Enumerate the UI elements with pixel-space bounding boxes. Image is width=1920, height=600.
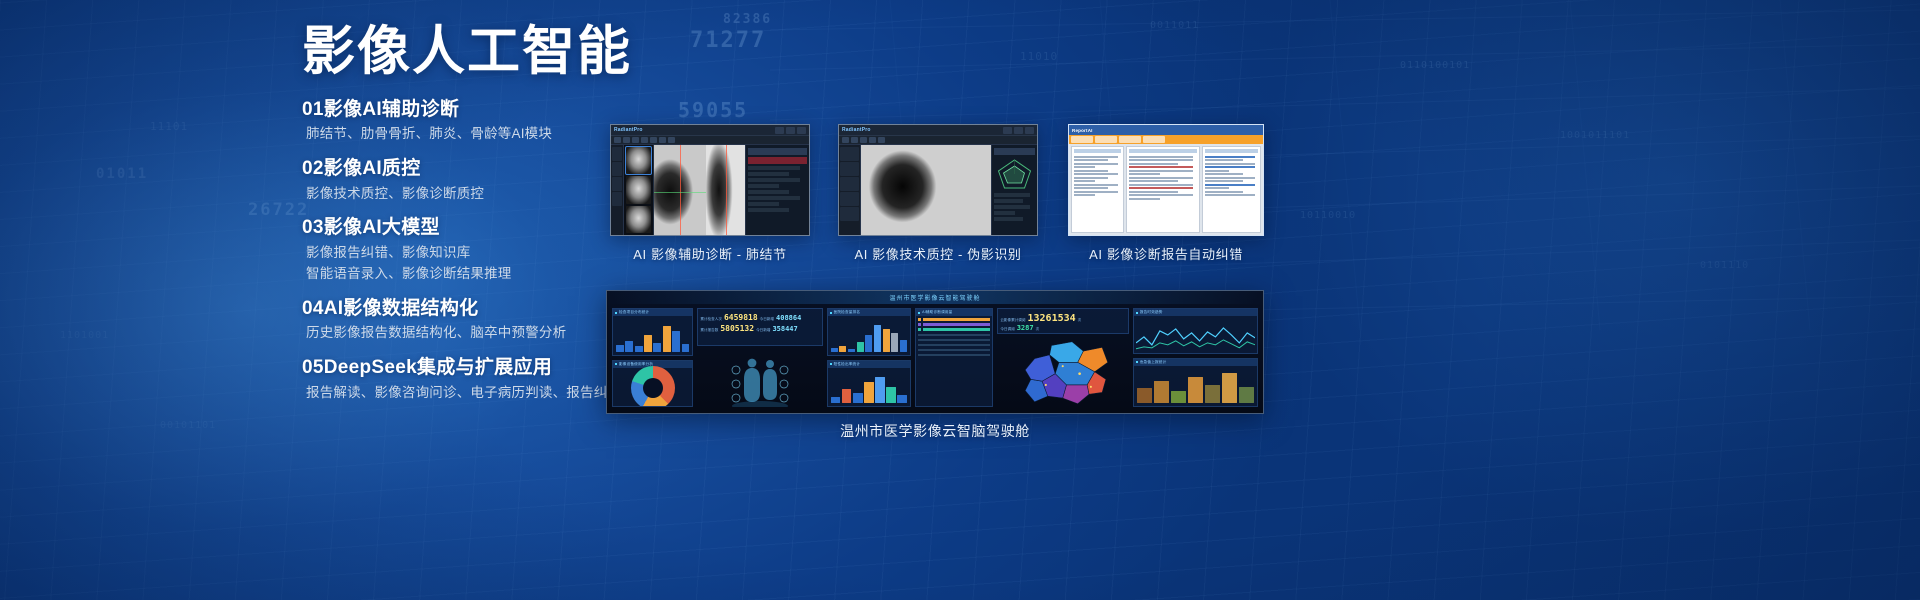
report-titlebar: ReportAI bbox=[1069, 125, 1263, 135]
sidebar-item-artifacts[interactable] bbox=[840, 177, 859, 191]
panel-body bbox=[613, 316, 692, 355]
qc-metric-row[interactable] bbox=[994, 205, 1030, 209]
kpi-delta-label: 今日新增 bbox=[760, 317, 774, 322]
bullet-icon bbox=[615, 363, 617, 365]
viewer-titlebar: RadiantPro bbox=[611, 125, 809, 136]
kpi-value: 5805132 bbox=[720, 324, 754, 333]
suggestion-header bbox=[1205, 149, 1258, 153]
viewer-toolbar[interactable] bbox=[839, 136, 1037, 145]
line-chart bbox=[1136, 323, 1255, 353]
sidebar-item-series[interactable] bbox=[612, 147, 622, 161]
panel-critical-value-report[interactable]: 危急值上报统计 bbox=[1133, 358, 1258, 407]
ct-chest-image[interactable] bbox=[861, 145, 991, 235]
report-editor-window: ReportAI bbox=[1069, 125, 1263, 235]
finding-row[interactable] bbox=[748, 166, 800, 170]
bar bbox=[653, 343, 661, 352]
worklist-header bbox=[1074, 149, 1121, 153]
worklist-row[interactable] bbox=[1074, 166, 1095, 168]
kpi-label: 今日调阅 bbox=[1000, 327, 1014, 332]
finding-row[interactable] bbox=[748, 190, 789, 194]
kpi-label: 累计检查人次 bbox=[700, 317, 722, 322]
bar bbox=[864, 382, 874, 403]
ai-findings-panel[interactable] bbox=[745, 145, 809, 235]
worklist-row[interactable] bbox=[1074, 163, 1118, 165]
panel-body bbox=[613, 368, 692, 407]
bullet-icon bbox=[1136, 361, 1138, 363]
bar bbox=[883, 329, 890, 352]
human-body-illustration bbox=[729, 350, 791, 407]
crosshair-horizontal bbox=[654, 192, 706, 193]
panel-title: 医院检查量排名 bbox=[834, 310, 861, 315]
suggestion-row[interactable] bbox=[1205, 184, 1255, 186]
bar bbox=[831, 397, 841, 403]
dashboard-column-2: 累计检查人次 6459818 今日新增 408864 累计报告数 5805132… bbox=[697, 308, 822, 407]
suggestion-row[interactable] bbox=[1205, 159, 1243, 161]
bar bbox=[1239, 387, 1254, 403]
worklist-row[interactable] bbox=[1074, 184, 1118, 186]
sidebar-item-qc-rules[interactable] bbox=[840, 162, 859, 176]
bar bbox=[853, 393, 863, 403]
panel-body bbox=[1134, 316, 1257, 353]
sidebar-item-patient[interactable] bbox=[612, 162, 622, 176]
report-text-line bbox=[1129, 159, 1193, 161]
worklist-row[interactable] bbox=[1074, 173, 1118, 175]
legend-item bbox=[918, 328, 990, 331]
suggestion-row[interactable] bbox=[1205, 191, 1243, 193]
dashboard-grid: 检查项目分布统计 bbox=[607, 304, 1263, 413]
bar bbox=[839, 346, 846, 351]
panel-exam-distribution[interactable]: 检查项目分布统计 bbox=[612, 308, 693, 356]
zoom-icon[interactable] bbox=[851, 137, 858, 143]
viewer-sidebar[interactable] bbox=[611, 145, 624, 235]
layout-icon[interactable] bbox=[659, 137, 666, 143]
suggestion-row[interactable] bbox=[1205, 163, 1255, 165]
report-text-line bbox=[1129, 198, 1160, 200]
bar bbox=[875, 377, 885, 403]
list-row bbox=[918, 344, 990, 346]
bullet-icon bbox=[830, 363, 832, 365]
report-text-line bbox=[1129, 194, 1193, 196]
worklist-row[interactable] bbox=[1074, 177, 1108, 179]
viewer-sidebar[interactable] bbox=[839, 145, 861, 235]
window-controls[interactable] bbox=[775, 127, 806, 134]
qc-result-panel[interactable] bbox=[991, 145, 1037, 235]
wenzhou-region-map[interactable] bbox=[997, 338, 1128, 407]
maximize-icon[interactable] bbox=[1014, 127, 1023, 134]
panel-human-body-model[interactable] bbox=[697, 350, 822, 407]
bar bbox=[831, 348, 838, 352]
app-brand-label: RadiantPro bbox=[842, 127, 871, 133]
qc-metric-row[interactable] bbox=[994, 199, 1023, 203]
bar bbox=[857, 342, 864, 351]
bar bbox=[1171, 391, 1186, 403]
worklist-row[interactable] bbox=[1074, 191, 1118, 193]
qc-metric-row[interactable] bbox=[994, 211, 1015, 215]
dashboard-column-1: 检查项目分布统计 bbox=[612, 308, 693, 407]
feature-subtitle-line2: 智能语音录入、影像诊断结果推理 bbox=[306, 264, 672, 285]
legend-item bbox=[918, 318, 990, 321]
panel-ai-usage-list[interactable]: AI辅助诊断调用量 bbox=[915, 308, 993, 407]
dashboard-title: 温州市医学影像云智能驾驶舱 bbox=[607, 291, 1263, 304]
sidebar-item-settings[interactable] bbox=[612, 192, 622, 206]
legend-swatch bbox=[918, 323, 921, 326]
kpi-delta-label: 今日新增 bbox=[756, 328, 770, 333]
bar bbox=[1137, 388, 1152, 403]
dashboard-column-5: 云影像累计调阅 13261534 次 今日调阅 3287 次 bbox=[997, 308, 1128, 407]
qc-radar-chart bbox=[994, 157, 1035, 191]
bar bbox=[1205, 385, 1220, 403]
window-level-icon[interactable] bbox=[860, 137, 867, 143]
panel-header: 阳性检出率统计 bbox=[828, 361, 911, 368]
bullet-icon bbox=[615, 312, 617, 314]
tab-report[interactable] bbox=[1095, 136, 1117, 143]
list-row bbox=[918, 349, 990, 351]
ai-icon[interactable] bbox=[668, 137, 675, 143]
suggestion-row[interactable] bbox=[1205, 156, 1255, 158]
panel-body bbox=[828, 368, 911, 407]
tab-correction[interactable] bbox=[1119, 136, 1141, 143]
close-icon[interactable] bbox=[797, 127, 806, 134]
dashboard-column-6: 报告时效趋势 危急值上报统计 bbox=[1133, 308, 1258, 407]
findings-panel-title bbox=[748, 148, 807, 155]
qc-metric-row[interactable] bbox=[994, 217, 1023, 221]
screenshot-caption-ai-diagnosis: AI 影像辅助诊断 - 肺结节 bbox=[610, 244, 810, 263]
list-row bbox=[918, 339, 990, 341]
kpi-value: 3287 bbox=[1017, 324, 1034, 332]
bar bbox=[1188, 377, 1203, 403]
panel-title: AI辅助诊断调用量 bbox=[922, 310, 952, 315]
list-row bbox=[918, 354, 990, 356]
zoom-icon[interactable] bbox=[623, 137, 630, 143]
report-worklist-column[interactable] bbox=[1071, 146, 1124, 233]
suggestion-row[interactable] bbox=[1205, 187, 1229, 189]
bar bbox=[886, 387, 896, 403]
finding-row[interactable] bbox=[748, 172, 789, 176]
dicom-viewer-window: RadiantPro bbox=[839, 125, 1037, 235]
report-text-line bbox=[1129, 177, 1193, 179]
window-level-icon[interactable] bbox=[632, 137, 639, 143]
panel-title: 报告时效趋势 bbox=[1140, 310, 1163, 315]
viewer-titlebar: RadiantPro bbox=[839, 125, 1037, 136]
pan-icon[interactable] bbox=[842, 137, 849, 143]
tab-worklist[interactable] bbox=[1071, 136, 1093, 143]
bar-chart bbox=[831, 322, 908, 351]
panel-body bbox=[828, 316, 911, 355]
pan-icon[interactable] bbox=[614, 137, 621, 143]
report-text-line bbox=[1129, 156, 1193, 158]
qc-panel-title bbox=[994, 148, 1035, 155]
page-title: 影像人工智能 bbox=[302, 24, 672, 80]
bar-chart bbox=[1137, 372, 1254, 403]
legend-swatch bbox=[918, 328, 921, 331]
worklist-row[interactable] bbox=[1074, 170, 1108, 172]
panel-cloud-access-kpi[interactable]: 云影像累计调阅 13261534 次 今日调阅 3287 次 bbox=[997, 308, 1128, 334]
screenshot-ai-qc[interactable]: RadiantPro bbox=[838, 124, 1038, 236]
close-icon[interactable] bbox=[1025, 127, 1034, 134]
bar bbox=[682, 344, 690, 352]
screenshot-caption-ai-qc: AI 影像技术质控 - 伪影识别 bbox=[838, 244, 1038, 263]
report-text-line bbox=[1129, 180, 1178, 182]
bar bbox=[891, 333, 898, 352]
legend-item bbox=[918, 323, 990, 326]
measure-icon[interactable] bbox=[869, 137, 876, 143]
bar bbox=[865, 335, 872, 352]
feature-subtitle-line1: 影像技术质控、影像诊断质控 bbox=[306, 186, 484, 201]
bar bbox=[842, 389, 852, 403]
nodule-alert-row[interactable] bbox=[748, 157, 807, 164]
panel-title: 检查项目分布统计 bbox=[619, 310, 649, 315]
panel-title: 阳性检出率统计 bbox=[834, 362, 861, 367]
legend-swatch bbox=[918, 318, 921, 321]
viewer-body bbox=[611, 145, 809, 235]
bar bbox=[644, 335, 652, 351]
correction-suggestion-column[interactable] bbox=[1202, 146, 1261, 233]
viewer-body bbox=[839, 145, 1037, 235]
panel-body: 累计检查人次 6459818 今日新增 408864 累计报告数 5805132… bbox=[698, 311, 821, 345]
bullet-icon bbox=[918, 312, 920, 314]
panel-header: 检查项目分布统计 bbox=[613, 309, 692, 316]
ct-axial-image[interactable] bbox=[654, 145, 706, 235]
panel-body bbox=[916, 316, 992, 406]
worklist-row[interactable] bbox=[1074, 194, 1095, 196]
report-text-header bbox=[1129, 149, 1197, 153]
dashboard-window: 温州市医学影像云智能驾驶舱 检查项目分布统计 bbox=[607, 291, 1263, 413]
bar bbox=[663, 326, 671, 352]
qc-metric-row[interactable] bbox=[994, 193, 1030, 197]
panel-cumulative-kpi[interactable]: 累计检查人次 6459818 今日新增 408864 累计报告数 5805132… bbox=[697, 308, 822, 346]
finding-row[interactable] bbox=[748, 178, 800, 182]
panel-hospital-ranking[interactable]: 医院检查量排名 bbox=[827, 308, 912, 356]
kpi-value: 6459818 bbox=[724, 313, 758, 322]
app-brand-label: ReportAI bbox=[1072, 128, 1093, 133]
bar bbox=[625, 341, 633, 352]
dashboard-caption: 温州市医学影像云智脑驾驶舱 bbox=[606, 421, 1264, 441]
kpi-unit: 次 bbox=[1078, 318, 1082, 323]
panel-header: 报告时效趋势 bbox=[1134, 309, 1257, 316]
feature-heading: 01影像AI辅助诊断 bbox=[302, 96, 672, 125]
panel-body bbox=[1134, 366, 1257, 406]
sidebar-item-report[interactable] bbox=[840, 192, 859, 206]
bar bbox=[616, 345, 624, 351]
suggestion-row[interactable] bbox=[1205, 194, 1255, 196]
report-text-column[interactable] bbox=[1126, 146, 1200, 233]
tab-history[interactable] bbox=[1143, 136, 1165, 143]
series-thumbnail[interactable] bbox=[626, 206, 651, 233]
panel-header: 危急值上报统计 bbox=[1134, 359, 1257, 366]
kpi-value: 13261534 bbox=[1028, 313, 1076, 324]
screenshot-caption-report-correction: AI 影像诊断报告自动纠错 bbox=[1066, 244, 1266, 263]
report-error-line bbox=[1129, 187, 1193, 189]
report-text-line bbox=[1129, 191, 1178, 193]
kpi-delta-value: 408864 bbox=[776, 314, 801, 322]
screenshot-report-correction[interactable]: ReportAI bbox=[1068, 124, 1264, 236]
finding-row[interactable] bbox=[748, 202, 779, 206]
series-thumbnail-list[interactable] bbox=[624, 145, 654, 235]
panel-region-map[interactable] bbox=[997, 338, 1128, 407]
worklist-row[interactable] bbox=[1074, 187, 1108, 189]
donut-chart bbox=[631, 366, 675, 407]
app-brand-label: RadiantPro bbox=[614, 127, 643, 133]
report-text-line bbox=[1129, 173, 1160, 175]
crosshair-vertical bbox=[726, 145, 727, 235]
panel-positive-rate[interactable]: 阳性检出率统计 bbox=[827, 360, 912, 408]
finding-row[interactable] bbox=[748, 208, 789, 212]
dashboard-column-3: 医院检查量排名 bbox=[827, 308, 912, 407]
suggestion-row[interactable] bbox=[1205, 170, 1229, 172]
bar bbox=[672, 331, 680, 351]
suggestion-row[interactable] bbox=[1205, 177, 1255, 179]
kpi-delta-value: 358447 bbox=[772, 325, 797, 333]
minimize-icon[interactable] bbox=[1003, 127, 1012, 134]
dashboard-screenshot[interactable]: 温州市医学影像云智能驾驶舱 检查项目分布统计 bbox=[606, 290, 1264, 414]
feature-subtitle-line1: 报告解读、影像咨询问诊、电子病历判读、报告纠错等 bbox=[306, 385, 635, 400]
panel-header: AI辅助诊断调用量 bbox=[916, 309, 992, 316]
suggestion-row[interactable] bbox=[1205, 180, 1243, 182]
worklist-row[interactable] bbox=[1074, 159, 1108, 161]
finding-row[interactable] bbox=[748, 184, 779, 188]
screenshot-ai-diagnosis[interactable]: RadiantPro bbox=[610, 124, 810, 236]
legend-value-bar bbox=[923, 318, 990, 321]
panel-report-turnaround[interactable]: 报告时效趋势 bbox=[1133, 308, 1258, 354]
suggestion-row[interactable] bbox=[1205, 166, 1255, 168]
panel-body: 云影像累计调阅 13261534 次 今日调阅 3287 次 bbox=[998, 311, 1127, 333]
panel-header: 医院检查量排名 bbox=[828, 309, 911, 316]
series-thumbnail[interactable] bbox=[626, 176, 651, 203]
report-body bbox=[1069, 144, 1263, 235]
bar bbox=[635, 346, 643, 351]
report-text-line bbox=[1129, 170, 1193, 172]
minimize-icon[interactable] bbox=[775, 127, 784, 134]
dicom-viewer-window: RadiantPro bbox=[611, 125, 809, 235]
image-viewport[interactable] bbox=[654, 145, 745, 235]
list-row bbox=[918, 334, 990, 336]
maximize-icon[interactable] bbox=[786, 127, 795, 134]
bar bbox=[874, 325, 881, 352]
bullet-icon bbox=[830, 312, 832, 314]
qc-icon[interactable] bbox=[878, 137, 885, 143]
sidebar-item-findings[interactable] bbox=[612, 177, 622, 191]
bullet-icon bbox=[1136, 312, 1138, 314]
bar-chart bbox=[616, 322, 689, 351]
bar bbox=[1154, 381, 1169, 403]
crosshair-vertical bbox=[680, 145, 681, 235]
bar bbox=[897, 395, 907, 403]
bar bbox=[1222, 373, 1237, 403]
panel-title: 危急值上报统计 bbox=[1140, 360, 1167, 365]
image-viewport[interactable] bbox=[861, 145, 991, 235]
ct-coronal-image[interactable] bbox=[706, 145, 745, 235]
window-controls[interactable] bbox=[1003, 127, 1034, 134]
bar bbox=[900, 340, 907, 352]
report-text-line bbox=[1129, 163, 1178, 165]
suggestion-row[interactable] bbox=[1205, 173, 1243, 175]
legend-value-bar bbox=[923, 328, 990, 331]
kpi-label: 云影像累计调阅 bbox=[1000, 318, 1025, 323]
sidebar-item-settings[interactable] bbox=[840, 207, 859, 221]
sidebar-item-worklist[interactable] bbox=[840, 147, 859, 161]
feature-subtitle-line1: 肺结节、肋骨骨折、肺炎、骨龄等AI模块 bbox=[306, 126, 552, 141]
report-text-line bbox=[1129, 184, 1193, 186]
panel-modality-share[interactable]: 影像设备使用率分析 bbox=[612, 360, 693, 408]
dashboard-column-4: AI辅助诊断调用量 bbox=[915, 308, 993, 407]
report-error-line bbox=[1129, 166, 1193, 168]
kpi-unit: 次 bbox=[1036, 327, 1040, 332]
measure-icon[interactable] bbox=[641, 137, 648, 143]
worklist-row[interactable] bbox=[1074, 156, 1118, 158]
worklist-row[interactable] bbox=[1074, 180, 1095, 182]
legend-value-bar bbox=[923, 323, 990, 326]
series-thumbnail[interactable] bbox=[626, 147, 651, 174]
bar-chart bbox=[831, 374, 908, 403]
viewer-toolbar[interactable] bbox=[611, 136, 809, 145]
annotate-icon[interactable] bbox=[650, 137, 657, 143]
bar bbox=[848, 349, 855, 352]
finding-row[interactable] bbox=[748, 196, 800, 200]
report-toolbar[interactable] bbox=[1069, 135, 1263, 144]
feature-subtitle-line1: 历史影像报告数据结构化、脑卒中预警分析 bbox=[306, 325, 566, 340]
kpi-label: 累计报告数 bbox=[700, 328, 718, 333]
